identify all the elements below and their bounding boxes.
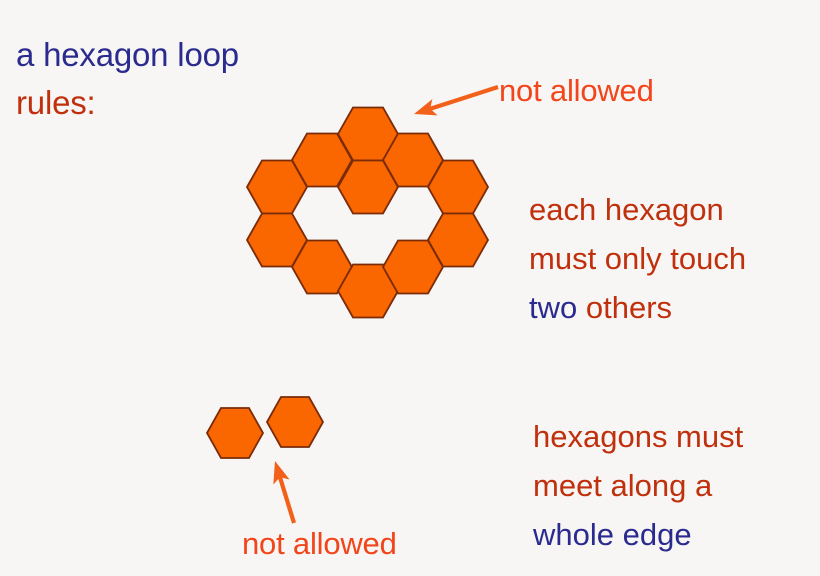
rule2-line-1: hexagons must xyxy=(533,412,743,461)
rule1-line-3: two others xyxy=(529,283,746,332)
rule1-line-3-rest: others xyxy=(586,290,672,325)
rule-each-hexagon-touch-two: each hexagon must only touch two others xyxy=(529,185,746,332)
arrow-not-allowed-top-shaft xyxy=(429,87,498,109)
rule1-line-1: each hexagon xyxy=(529,185,746,234)
label-not-allowed-top: not allowed xyxy=(499,75,654,106)
arrow-not-allowed-bottom-shaft xyxy=(280,476,294,523)
diagram-canvas: a hexagon loop rules: not allowed not al… xyxy=(0,0,820,576)
arrow-not-allowed-bottom xyxy=(273,461,294,523)
rule2-line-3: whole edge xyxy=(533,510,743,559)
rule1-line-3-emphasis: two xyxy=(529,290,577,325)
arrow-not-allowed-top xyxy=(414,87,498,115)
rule-meet-along-whole-edge: hexagons must meet along a whole edge xyxy=(533,412,743,559)
rule1-line-2: must only touch xyxy=(529,234,746,283)
rule2-line-2: meet along a xyxy=(533,461,743,510)
rule1-line-3-space xyxy=(577,290,586,325)
label-not-allowed-bottom: not allowed xyxy=(242,528,397,559)
